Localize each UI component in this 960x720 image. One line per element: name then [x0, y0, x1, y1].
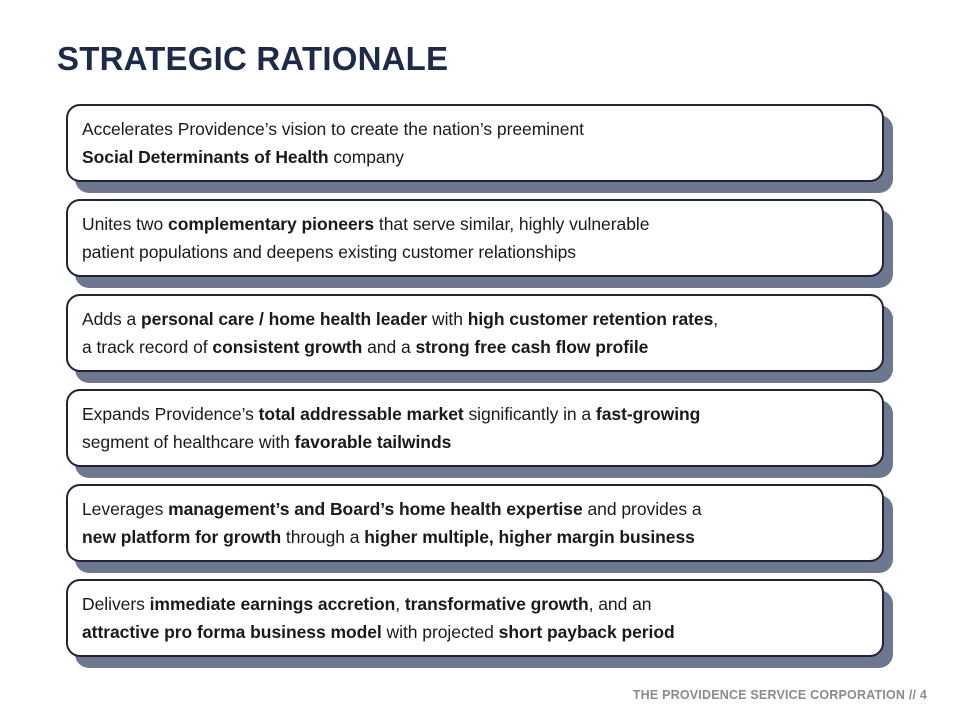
bullet-text-run: company	[329, 147, 404, 167]
bullet-text-emphasis: short payback period	[499, 622, 675, 642]
bullet-text-line: Leverages management’s and Board’s home …	[82, 495, 868, 523]
bullet-box: Adds a personal care / home health leade…	[66, 294, 884, 372]
bullet-box-body: Expands Providence’s total addressable m…	[66, 389, 884, 467]
bullet-text-run: that serve similar, highly vulnerable	[374, 214, 649, 234]
bullet-text-emphasis: new platform for growth	[82, 527, 281, 547]
bullet-text-emphasis: complementary pioneers	[168, 214, 374, 234]
bullet-text-run: ,	[395, 594, 405, 614]
bullet-text-line: Unites two complementary pioneers that s…	[82, 210, 868, 238]
bullet-box-body: Leverages management’s and Board’s home …	[66, 484, 884, 562]
bullet-text-line: Expands Providence’s total addressable m…	[82, 400, 868, 428]
bullet-text-run: segment of healthcare with	[82, 432, 295, 452]
bullet-text-run: a track record of	[82, 337, 212, 357]
bullet-text-emphasis: transformative growth	[405, 594, 589, 614]
bullet-text-emphasis: management’s and Board’s home health exp…	[168, 499, 583, 519]
slide-footer: THE PROVIDENCE SERVICE CORPORATION // 4	[633, 688, 927, 702]
bullet-text-emphasis: high customer retention rates	[468, 309, 714, 329]
bullet-text-run: Expands Providence’s	[82, 404, 259, 424]
bullet-text-run: with	[427, 309, 468, 329]
bullet-text-run: Delivers	[82, 594, 150, 614]
bullet-text-run: significantly in a	[464, 404, 596, 424]
bullet-text-run: , and an	[589, 594, 652, 614]
bullet-box-list: Accelerates Providence’s vision to creat…	[0, 104, 960, 674]
bullet-text-run: and a	[362, 337, 415, 357]
bullet-text-run: Unites two	[82, 214, 168, 234]
bullet-text-line: attractive pro forma business model with…	[82, 618, 868, 646]
page-title: STRATEGIC RATIONALE	[57, 40, 448, 78]
bullet-box: Leverages management’s and Board’s home …	[66, 484, 884, 562]
bullet-text-run: patient populations and deepens existing…	[82, 242, 576, 262]
bullet-text-line: Social Determinants of Health company	[82, 143, 868, 171]
bullet-text-line: segment of healthcare with favorable tai…	[82, 428, 868, 456]
bullet-text-emphasis: personal care / home health leader	[141, 309, 427, 329]
bullet-text-run: through a	[281, 527, 364, 547]
bullet-text-emphasis: strong free cash flow profile	[415, 337, 648, 357]
bullet-box: Delivers immediate earnings accretion, t…	[66, 579, 884, 657]
bullet-text-emphasis: consistent growth	[212, 337, 362, 357]
bullet-text-emphasis: favorable tailwinds	[295, 432, 452, 452]
bullet-box: Accelerates Providence’s vision to creat…	[66, 104, 884, 182]
bullet-text-run: Adds a	[82, 309, 141, 329]
bullet-box-body: Adds a personal care / home health leade…	[66, 294, 884, 372]
slide-canvas: STRATEGIC RATIONALE Accelerates Providen…	[0, 0, 960, 720]
bullet-text-line: new platform for growth through a higher…	[82, 523, 868, 551]
bullet-text-line: Delivers immediate earnings accretion, t…	[82, 590, 868, 618]
bullet-text-emphasis: total addressable market	[259, 404, 464, 424]
bullet-text-emphasis: immediate earnings accretion	[150, 594, 396, 614]
bullet-text-emphasis: attractive pro forma business model	[82, 622, 382, 642]
bullet-box-body: Accelerates Providence’s vision to creat…	[66, 104, 884, 182]
bullet-box-body: Unites two complementary pioneers that s…	[66, 199, 884, 277]
bullet-text-run: ,	[713, 309, 718, 329]
bullet-text-run: Leverages	[82, 499, 168, 519]
bullet-box: Expands Providence’s total addressable m…	[66, 389, 884, 467]
bullet-text-line: Accelerates Providence’s vision to creat…	[82, 115, 868, 143]
bullet-text-line: a track record of consistent growth and …	[82, 333, 868, 361]
bullet-text-line: patient populations and deepens existing…	[82, 238, 868, 266]
bullet-text-emphasis: Social Determinants of Health	[82, 147, 329, 167]
bullet-text-run: Accelerates Providence’s vision to creat…	[82, 119, 584, 139]
bullet-text-run: with projected	[382, 622, 499, 642]
bullet-box: Unites two complementary pioneers that s…	[66, 199, 884, 277]
bullet-text-line: Adds a personal care / home health leade…	[82, 305, 868, 333]
bullet-text-emphasis: higher multiple, higher margin business	[364, 527, 695, 547]
bullet-text-emphasis: fast-growing	[596, 404, 700, 424]
bullet-text-run: and provides a	[583, 499, 702, 519]
bullet-box-body: Delivers immediate earnings accretion, t…	[66, 579, 884, 657]
